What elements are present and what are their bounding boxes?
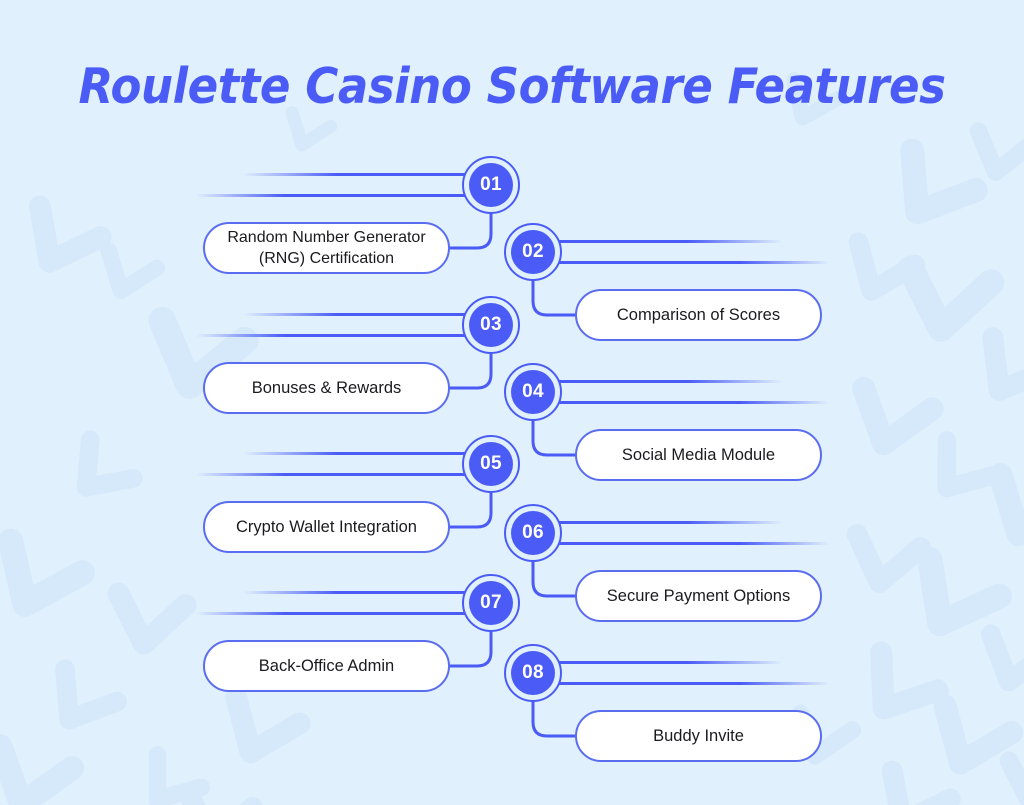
feature-label-line-1: Random Number Generator (227, 229, 425, 246)
feature-connector-line (448, 352, 491, 390)
step-badge-04[interactable]: 04 (504, 363, 562, 421)
chevron-watermark-icon (39, 421, 154, 536)
chevron-watermark-icon (196, 676, 319, 799)
step-number: 05 (469, 442, 513, 486)
feature-label: Bonuses & Rewards (252, 378, 402, 398)
step-number: 04 (511, 370, 555, 414)
feature-card-03[interactable]: Bonuses & Rewards (203, 362, 450, 414)
step-badge-03[interactable]: 03 (462, 296, 520, 354)
feature-label: Random Number Generator(RNG) Certificati… (227, 227, 425, 269)
chevron-watermark-icon (899, 421, 1013, 535)
step-badge-07[interactable]: 07 (462, 574, 520, 632)
feature-label: Buddy Invite (653, 726, 744, 746)
feature-label: Crypto Wallet Integration (236, 517, 417, 537)
chevron-watermark-icon (850, 750, 970, 805)
chevron-watermark-icon (831, 515, 937, 621)
feature-card-04[interactable]: Social Media Module (575, 429, 822, 481)
feature-card-08[interactable]: Buddy Invite (575, 710, 822, 762)
chevron-watermark-icon (81, 235, 172, 326)
chevron-watermark-icon (0, 723, 93, 805)
feature-connector-line (448, 491, 491, 529)
feature-label-line-2: (RNG) Certification (259, 250, 394, 267)
step-number: 01 (469, 163, 513, 207)
feature-connector-line (533, 279, 577, 317)
chevron-watermark-icon (962, 616, 1024, 721)
step-badge-06[interactable]: 06 (504, 504, 562, 562)
step-number: 03 (469, 303, 513, 347)
chevron-watermark-icon (0, 516, 106, 660)
feature-card-01[interactable]: Random Number Generator(RNG) Certificati… (203, 222, 450, 274)
feature-connector-line (448, 212, 491, 250)
feature-connector-line (533, 700, 577, 738)
feature-label: Comparison of Scores (617, 305, 780, 325)
feature-card-07[interactable]: Back-Office Admin (203, 640, 450, 692)
feature-card-02[interactable]: Comparison of Scores (575, 289, 822, 341)
chevron-watermark-icon (0, 184, 122, 312)
chevron-watermark-icon (954, 114, 1024, 205)
page-title: Roulette Casino Software Features (41, 58, 983, 115)
step-badge-02[interactable]: 02 (504, 223, 562, 281)
step-badge-08[interactable]: 08 (504, 644, 562, 702)
chevron-watermark-icon (828, 630, 960, 762)
feature-label: Back-Office Admin (259, 656, 394, 676)
chevron-watermark-icon (881, 245, 1011, 375)
step-badge-01[interactable]: 01 (462, 156, 520, 214)
step-badge-05[interactable]: 05 (462, 435, 520, 493)
feature-label: Social Media Module (622, 445, 775, 465)
step-number: 08 (511, 651, 555, 695)
chevron-watermark-icon (19, 649, 137, 767)
feature-label: Secure Payment Options (607, 586, 790, 606)
chevron-watermark-icon (113, 737, 220, 805)
chevron-watermark-icon (959, 451, 1024, 584)
infographic-canvas: Roulette Casino Software Features 01Rand… (0, 0, 1024, 805)
feature-card-06[interactable]: Secure Payment Options (575, 570, 822, 622)
step-number: 07 (469, 581, 513, 625)
chevron-watermark-icon (988, 744, 1024, 805)
chevron-watermark-icon (823, 223, 934, 334)
feature-connector-line (533, 560, 577, 598)
chevron-watermark-icon (828, 366, 951, 489)
feature-card-05[interactable]: Crypto Wallet Integration (203, 501, 450, 553)
step-number: 06 (511, 511, 555, 555)
chevron-watermark-icon (946, 316, 1024, 439)
chevron-watermark-icon (876, 534, 1024, 682)
step-number: 02 (511, 230, 555, 274)
feature-connector-line (448, 630, 491, 668)
chevron-watermark-icon (94, 574, 202, 682)
chevron-watermark-icon (856, 126, 1000, 270)
chevron-watermark-icon (903, 683, 1024, 805)
chevron-watermark-icon (163, 775, 269, 805)
feature-connector-line (533, 419, 577, 457)
